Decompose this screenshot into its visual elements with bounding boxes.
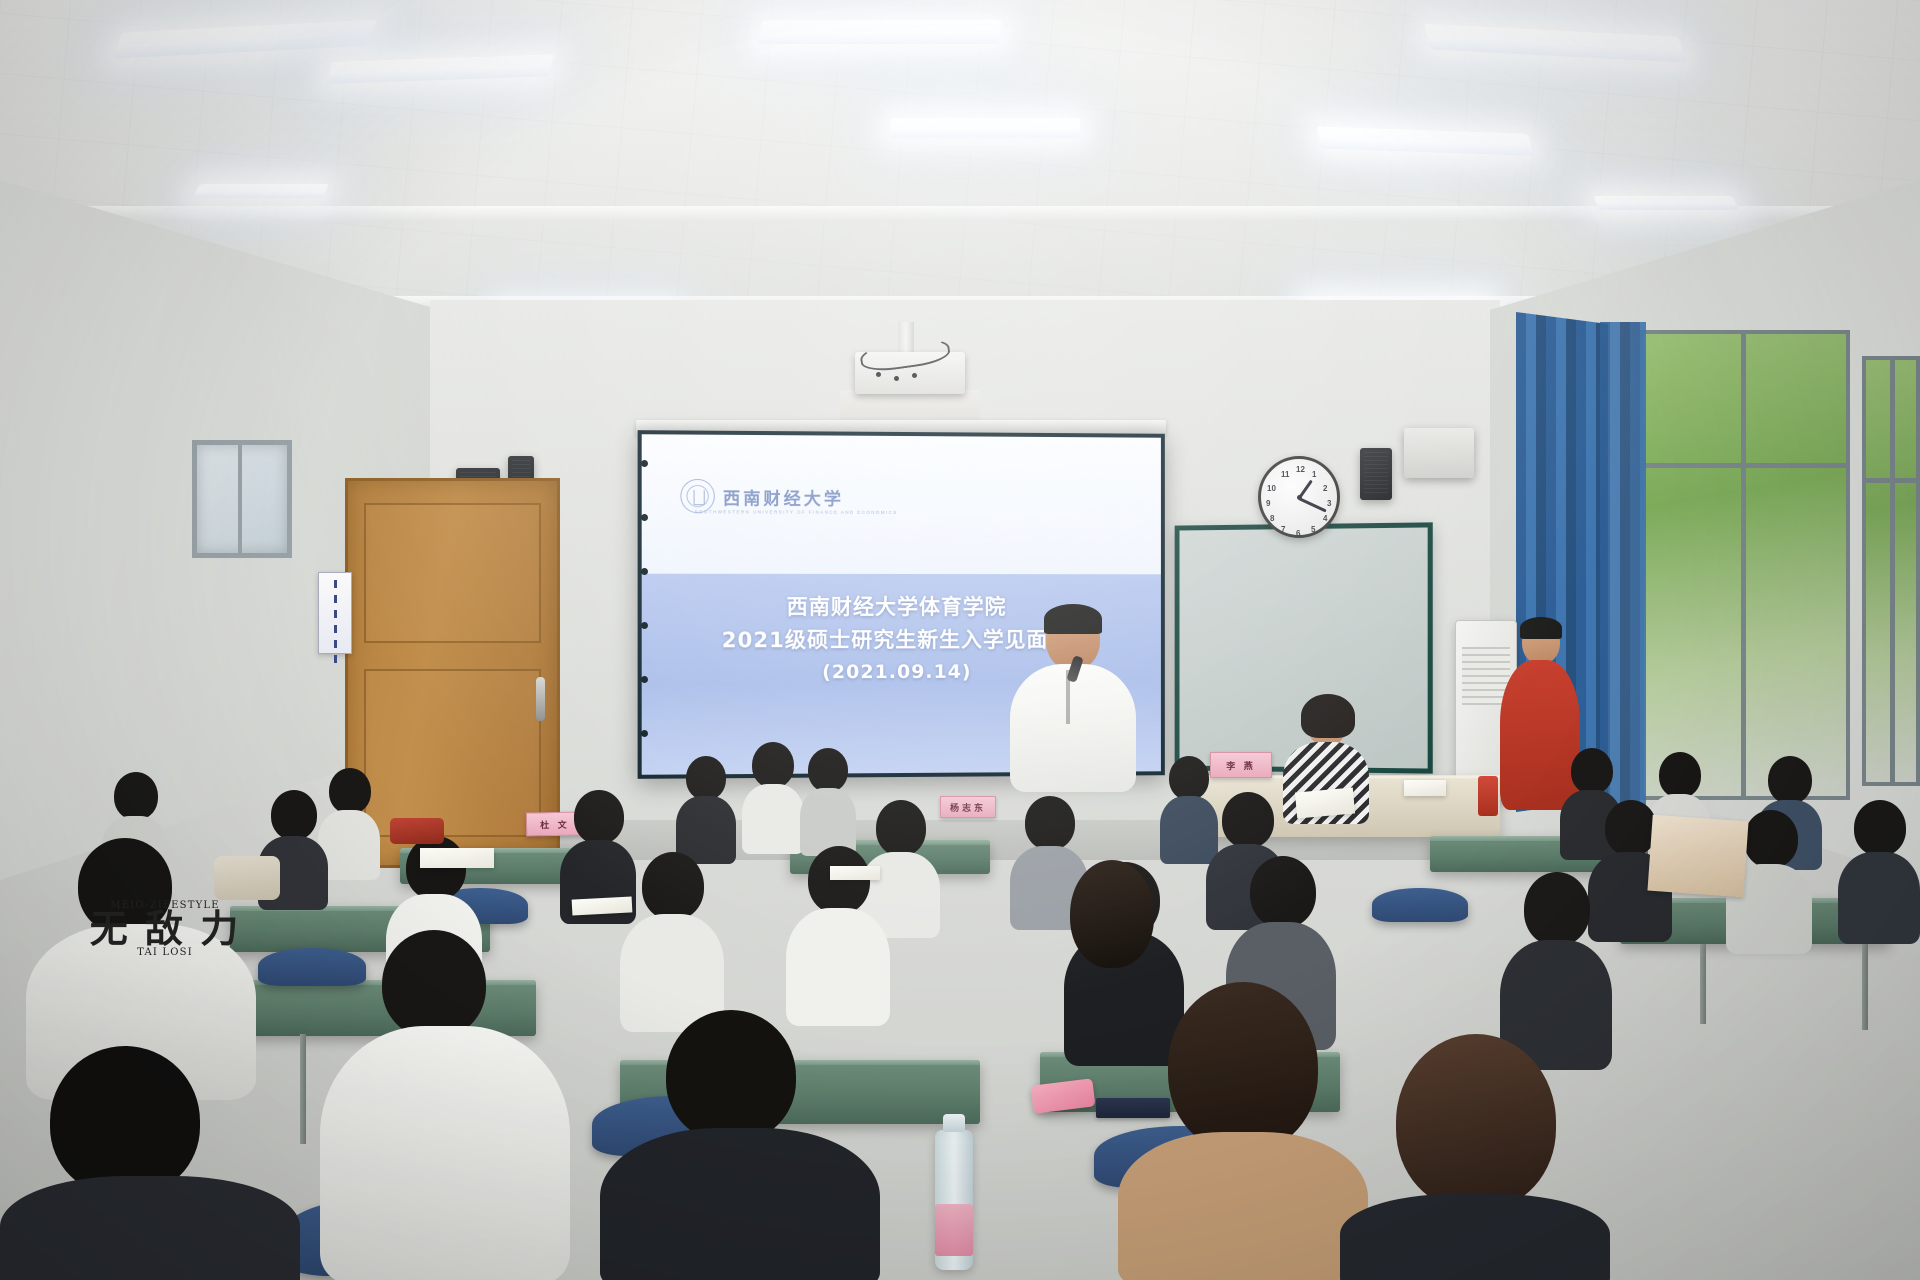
student-chair: [1372, 888, 1468, 922]
nameplate: 李 燕: [1210, 752, 1272, 778]
seated-student: [600, 1010, 880, 1280]
seated-student: [742, 742, 804, 850]
door-handle-icon[interactable]: [536, 677, 545, 721]
ceiling-light: [1593, 196, 1739, 210]
bottle-cap: [943, 1114, 965, 1132]
newspaper: [1647, 815, 1748, 898]
paper-sheet: [830, 866, 880, 880]
screen-edge-grommets: [640, 432, 650, 777]
presenter-shirt: [1010, 664, 1136, 792]
ceiling-light: [889, 118, 1080, 138]
paper-sheet: [1404, 780, 1446, 796]
window-curtain: [1600, 322, 1646, 806]
wall-clock: 12 1 2 3 4 5 6 7 8 9 10 11: [1258, 456, 1340, 538]
seated-student: [676, 756, 736, 860]
presenter-hair: [1044, 604, 1102, 634]
ceiling-light: [193, 184, 330, 198]
logo-emblem-icon: [680, 479, 715, 513]
water-bottle: [935, 1130, 973, 1270]
seated-student: [320, 930, 570, 1280]
ceiling-light: [758, 20, 1001, 44]
seated-student: [1838, 800, 1920, 940]
seated-student: [1340, 1034, 1610, 1280]
tshirt-chinese-text: 无 敌 力: [70, 911, 260, 947]
paper-sheet: [1295, 788, 1355, 819]
red-bag: [390, 818, 444, 844]
seated-student: [0, 1046, 300, 1280]
seated-student: [620, 852, 724, 1028]
clock-minute-hand: [1298, 497, 1326, 512]
bottle-label: [935, 1204, 973, 1256]
window: [1640, 330, 1850, 800]
tshirt-graphic: MEIO-ZIFESTYLE 无 敌 力 TAI LOSI: [70, 900, 260, 1010]
nameplate: 杨志东: [940, 796, 996, 818]
classroom-photo: 西南财经大学 SOUTHWESTERN UNIVERSITY OF FINANC…: [0, 0, 1920, 1280]
red-cup: [1478, 776, 1498, 816]
notebook: [1096, 1098, 1170, 1118]
paper-sheet: [420, 848, 494, 868]
left-wall-window: [192, 440, 292, 558]
paper-sheet: [572, 896, 633, 915]
logo-subtext: SOUTHWESTERN UNIVERSITY OF FINANCE AND E…: [695, 509, 898, 515]
bag: [214, 856, 280, 900]
seated-student: [1040, 860, 1180, 1060]
presenter-at-podium: [1008, 608, 1138, 788]
seated-student: [800, 748, 856, 852]
wall-speaker: [1360, 448, 1392, 500]
wall-vent: [1404, 428, 1474, 478]
logo-wordmark: 西南财经大学: [723, 484, 844, 510]
window: [1862, 356, 1920, 786]
door-sign: [318, 572, 352, 654]
